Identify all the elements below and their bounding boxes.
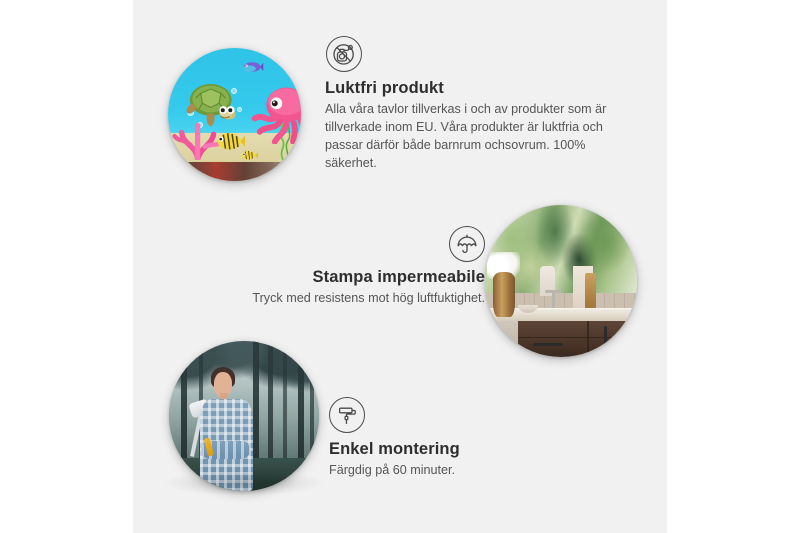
promo-infographic: Luktfri produkt Alla våra tavlor tillver… <box>0 0 800 533</box>
feature-title: Enkel montering <box>329 440 609 459</box>
octopus-icon <box>245 85 301 144</box>
feature-waterproof: Stampa impermeabile Tryck med resistens … <box>193 226 485 308</box>
drawer-handle <box>533 343 564 346</box>
cabinet-seam <box>518 337 637 339</box>
feature-odor-free: Luktfri produkt Alla våra tavlor tillver… <box>325 36 625 173</box>
floor <box>485 321 521 357</box>
bottle <box>585 273 596 313</box>
faucet-icon <box>552 290 555 310</box>
product-image-forest <box>169 341 319 491</box>
umbrella-icon <box>449 226 485 262</box>
feature-title: Stampa impermeabile <box>193 268 485 287</box>
person-figure <box>190 359 271 491</box>
letterbox-left <box>0 0 133 533</box>
content-panel: Luktfri produkt Alla våra tavlor tillver… <box>133 0 667 533</box>
door-handle <box>604 326 607 346</box>
vanity-cabinet <box>518 321 637 357</box>
no-fragrance-icon <box>326 36 362 72</box>
product-image-sea <box>168 48 301 181</box>
vase <box>493 272 516 318</box>
feature-easy-mounting: Enkel montering Färgdig på 60 minuter. <box>329 397 609 480</box>
letterbox-right <box>667 0 800 533</box>
feature-description: Tryck med resistens mot hög luftfuktighe… <box>193 290 485 308</box>
fish-icon <box>242 59 263 75</box>
cabinet-seam <box>587 321 589 357</box>
fish-icon <box>241 148 258 163</box>
feature-description: Färgdig på 60 minuter. <box>329 462 609 480</box>
product-image-bathroom <box>485 205 637 357</box>
paint-roller-icon <box>329 397 365 433</box>
feature-title: Luktfri produkt <box>325 79 625 98</box>
sea-foreground-strip <box>184 162 301 181</box>
feature-description: Alla våra tavlor tillverkas i och av pro… <box>325 101 625 173</box>
